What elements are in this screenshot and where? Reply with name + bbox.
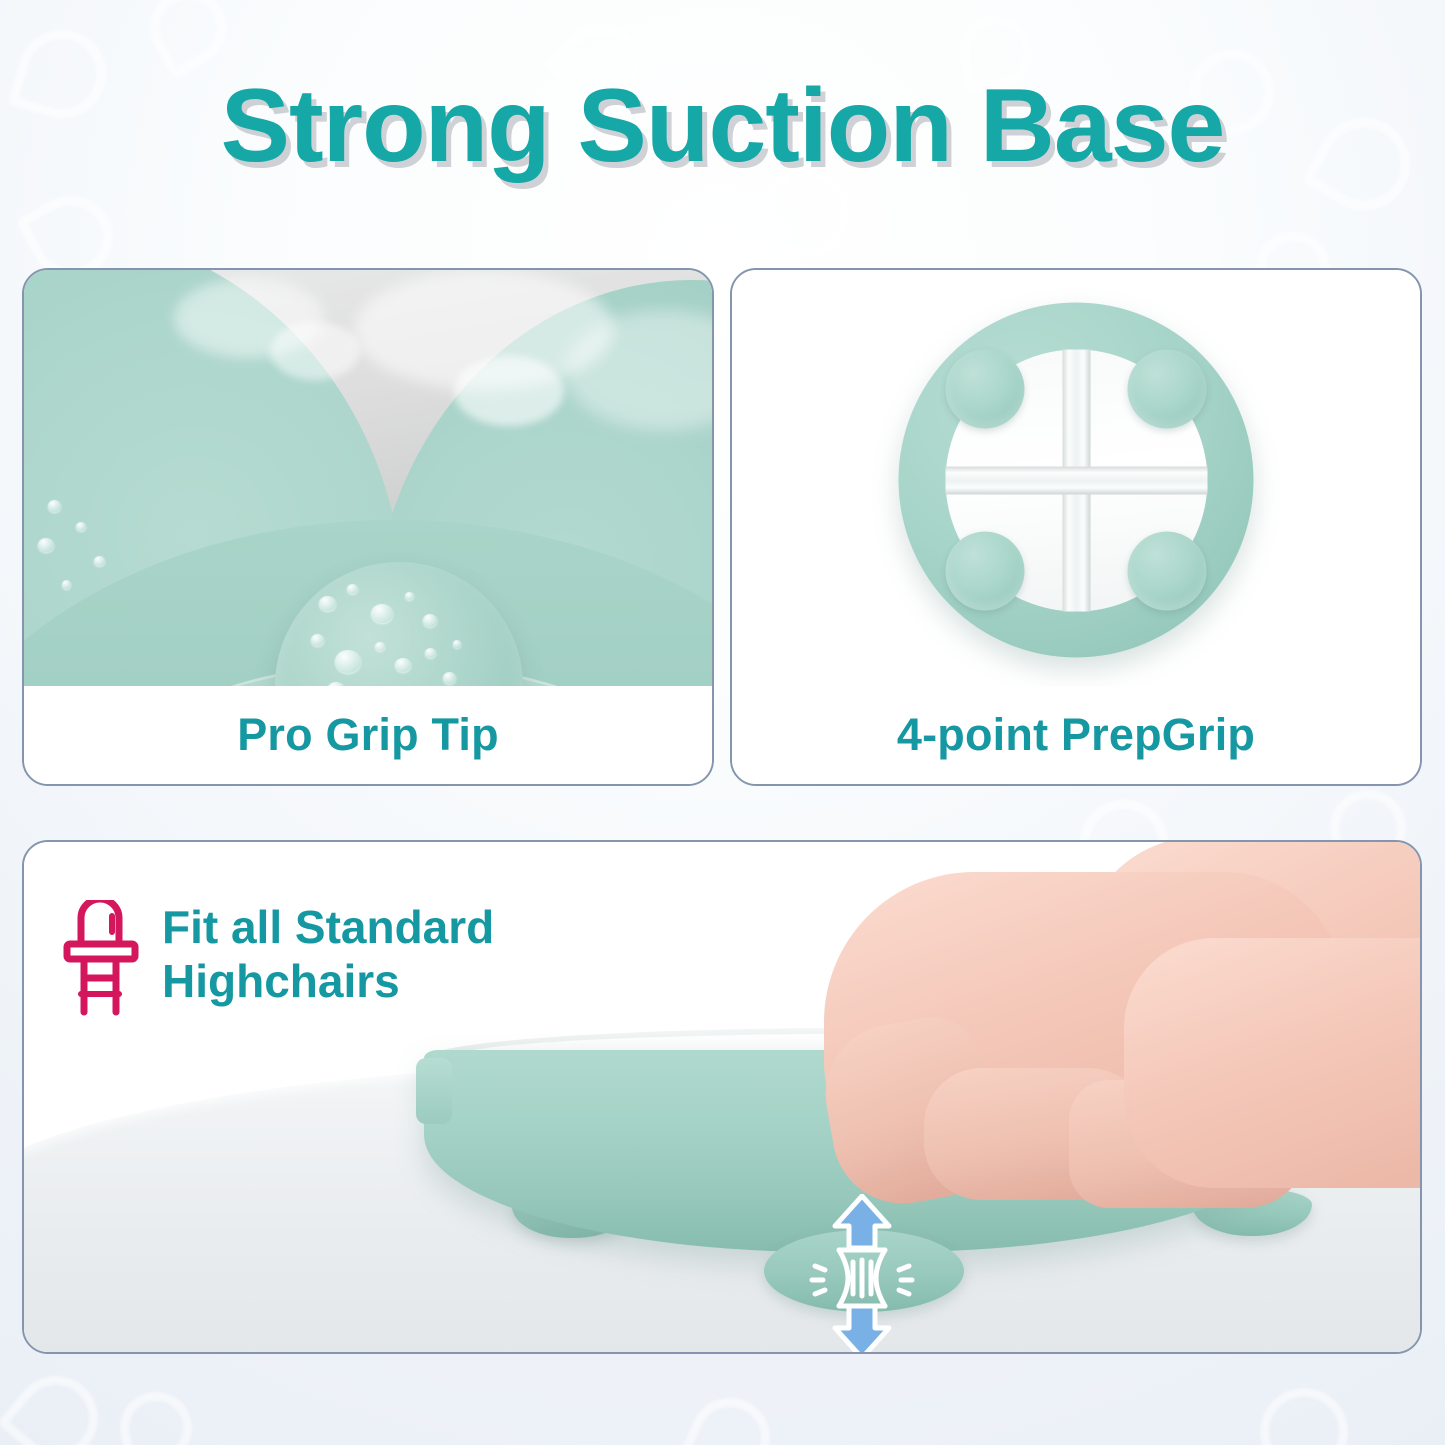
water-droplet (62, 580, 71, 589)
swirl-icon (677, 1385, 783, 1445)
wet-suction-closeup-image (24, 270, 712, 690)
suction-cup-top-left (946, 350, 1025, 429)
page-title: Strong Suction Base (0, 74, 1445, 178)
grip-symbol-icon (812, 1250, 912, 1306)
panel-caption-four-point-prepgrip: 4-point PrepGrip (732, 686, 1420, 784)
water-droplet (453, 640, 461, 648)
suction-indicator-svg (797, 1194, 927, 1352)
suction-base-disc (899, 303, 1254, 658)
swirl-icon (1243, 1371, 1366, 1445)
water-droplet (371, 604, 393, 623)
highchair-feature-text: Fit all Standard Highchairs (162, 900, 494, 1009)
foam-bubble (270, 322, 360, 380)
water-droplet (311, 634, 324, 646)
water-droplet (94, 556, 105, 566)
foam-bubble (454, 356, 564, 426)
prepgrip-photo (732, 270, 1420, 690)
water-droplet (38, 538, 54, 552)
suction-cup-top-right (1128, 350, 1207, 429)
up-arrow-icon (835, 1196, 889, 1248)
water-droplet (319, 596, 336, 611)
panel-four-point-prepgrip: 4-point PrepGrip (730, 268, 1422, 786)
water-droplet (443, 672, 456, 684)
down-arrow-icon (835, 1306, 889, 1352)
water-droplet (76, 522, 86, 531)
water-droplet (347, 584, 358, 594)
highchair-icon (62, 900, 140, 1018)
suction-arrows-icon (797, 1194, 927, 1352)
water-droplet (375, 642, 385, 651)
panel-fit-all-standard-highchairs: Fit all Standard Highchairs (22, 840, 1422, 1354)
suction-base-image (732, 270, 1420, 690)
water-droplet (395, 658, 411, 672)
panel-pro-grip-tip: Pro Grip Tip (22, 268, 714, 786)
highchair-feature-line-2: Highchairs (162, 954, 494, 1008)
water-droplet (423, 614, 437, 627)
pro-grip-tip-photo (24, 270, 712, 690)
highchair-feature-line-1: Fit all Standard (162, 900, 494, 954)
knuckles (1124, 938, 1420, 1188)
panel-caption-pro-grip-tip: Pro Grip Tip (24, 686, 712, 784)
highchair-feature-block: Fit all Standard Highchairs (62, 900, 494, 1018)
swirl-icon (0, 1359, 115, 1445)
water-droplet (48, 500, 61, 512)
swirl-icon (113, 1385, 198, 1445)
suction-cup-bottom-right (1128, 532, 1207, 611)
water-droplet (425, 648, 436, 658)
water-droplet (335, 650, 361, 673)
suction-cup-bottom-left (946, 532, 1025, 611)
bowl-side-lip-left (416, 1058, 452, 1124)
center-channel-horizontal (945, 466, 1207, 494)
water-droplet (405, 592, 414, 600)
infographic-canvas: Strong Suction Base (0, 0, 1445, 1445)
